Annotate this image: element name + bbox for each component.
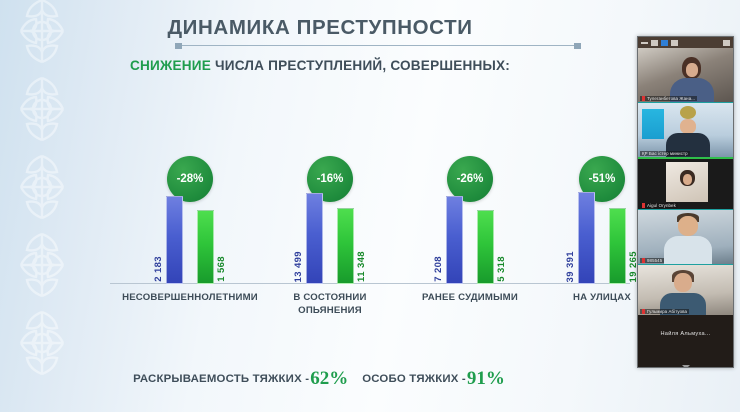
bar-pair: 2 183 1 568 — [166, 184, 214, 284]
category-label: В СОСТОЯНИИ ОПЬЯНЕНИЯ — [275, 292, 385, 318]
bar-item: 13 499 — [306, 193, 323, 284]
footer-label-2: ОСОБО ТЯЖКИХ - — [362, 373, 466, 385]
ornament-motif — [11, 150, 73, 224]
fullscreen-icon[interactable] — [671, 40, 678, 46]
participant-tiles: Тулеганбетова Жана... ҚР Бас істер минис… — [638, 48, 733, 315]
bar-item: 19 265 — [609, 208, 626, 284]
bar-value-blue: 39 391 — [565, 251, 576, 282]
page-title: ДИНАМИКА ПРЕСТУПНОСТИ — [0, 16, 640, 40]
bar-item: 1 568 — [197, 210, 214, 284]
participant-name: ҚР Бас істер министр — [640, 151, 690, 156]
active-speaker-name: Найля Альмуха... — [638, 331, 733, 337]
bar-pair: 13 499 11 348 — [306, 184, 354, 284]
participant-name: Тулеганбетова Жана... — [640, 96, 697, 101]
mic-muted-icon — [642, 203, 645, 208]
speaker-view-icon[interactable] — [651, 40, 658, 46]
bar-value-blue: 13 499 — [293, 251, 304, 282]
video-call-toolbar[interactable] — [638, 37, 733, 48]
bar-blue — [446, 196, 463, 284]
bar-chart: -28% 2 183 1 568 НЕСОВЕРШЕННОЛЕТНИМИ -16… — [110, 100, 630, 330]
bar-green — [477, 210, 494, 284]
bar-green — [609, 208, 626, 284]
participant-name: Aigul Orynbek — [640, 203, 678, 208]
bar-green — [197, 210, 214, 284]
participant-tile[interactable]: Aigul Orynbek — [638, 159, 733, 210]
bar-value-green: 5 318 — [496, 256, 507, 282]
bar-item: 7 208 — [446, 196, 463, 284]
bar-value-blue: 2 183 — [153, 256, 164, 282]
bar-value-green: 1 568 — [216, 256, 227, 282]
participant-name: 985545 — [640, 258, 664, 263]
bar-blue — [578, 192, 595, 284]
category-label: РАНЕЕ СУДИМЫМИ — [415, 292, 525, 305]
mic-muted-icon — [642, 96, 645, 101]
video-call-panel[interactable]: Тулеганбетова Жана... ҚР Бас істер минис… — [637, 36, 734, 368]
bar-value-green: 11 348 — [356, 251, 367, 282]
category-label: НЕСОВЕРШЕННОЛЕТНИМИ — [110, 292, 270, 305]
bar-item: 2 183 — [166, 196, 183, 284]
close-icon[interactable] — [723, 40, 730, 46]
mic-muted-icon — [642, 258, 645, 263]
footer-value-1: 62% — [310, 368, 348, 389]
bar-green — [337, 208, 354, 284]
footer-stats: РАСКРЫВАЕМОСТЬ ТЯЖКИХ -62%ОСОБО ТЯЖКИХ -… — [0, 368, 640, 390]
subtitle-rest: ЧИСЛА ПРЕСТУПЛЕНИЙ, СОВЕРШЕННЫХ: — [211, 58, 510, 73]
subtitle-highlight: СНИЖЕНИЕ — [130, 58, 211, 73]
bar-blue — [166, 196, 183, 284]
bar-item: 39 391 — [578, 192, 595, 284]
bar-pair: 39 391 19 265 — [578, 184, 626, 284]
bar-item: 5 318 — [477, 210, 494, 284]
subtitle: СНИЖЕНИЕ ЧИСЛА ПРЕСТУПЛЕНИЙ, СОВЕРШЕННЫХ… — [0, 58, 640, 73]
minimize-icon[interactable] — [641, 42, 648, 44]
title-divider — [178, 45, 578, 46]
active-speaker-bar[interactable]: Найля Альмуха... — [638, 315, 733, 368]
bar-blue — [306, 193, 323, 284]
footer-label-1: РАСКРЫВАЕМОСТЬ ТЯЖКИХ - — [133, 373, 309, 385]
footer-value-2: 91% — [467, 368, 505, 389]
participant-name: Гульмира Абітуова — [640, 309, 689, 314]
participant-tile[interactable]: Тулеганбетова Жана... — [638, 48, 733, 103]
mic-muted-icon — [642, 309, 645, 314]
participant-tile[interactable]: 985545 — [638, 210, 733, 265]
participant-tile[interactable]: Гульмира Абітуова — [638, 265, 733, 315]
ornament-motif — [11, 228, 73, 302]
ornament-motif — [11, 72, 73, 146]
participant-tile[interactable]: ҚР Бас істер министр — [638, 103, 733, 159]
bar-value-blue: 7 208 — [433, 256, 444, 282]
bar-pair: 7 208 5 318 — [446, 184, 494, 284]
slide-screen: ДИНАМИКА ПРЕСТУПНОСТИ СНИЖЕНИЕ ЧИСЛА ПРЕ… — [0, 0, 740, 412]
chevron-down-icon[interactable] — [682, 365, 690, 368]
bar-item: 11 348 — [337, 208, 354, 284]
gallery-view-icon[interactable] — [661, 40, 668, 46]
